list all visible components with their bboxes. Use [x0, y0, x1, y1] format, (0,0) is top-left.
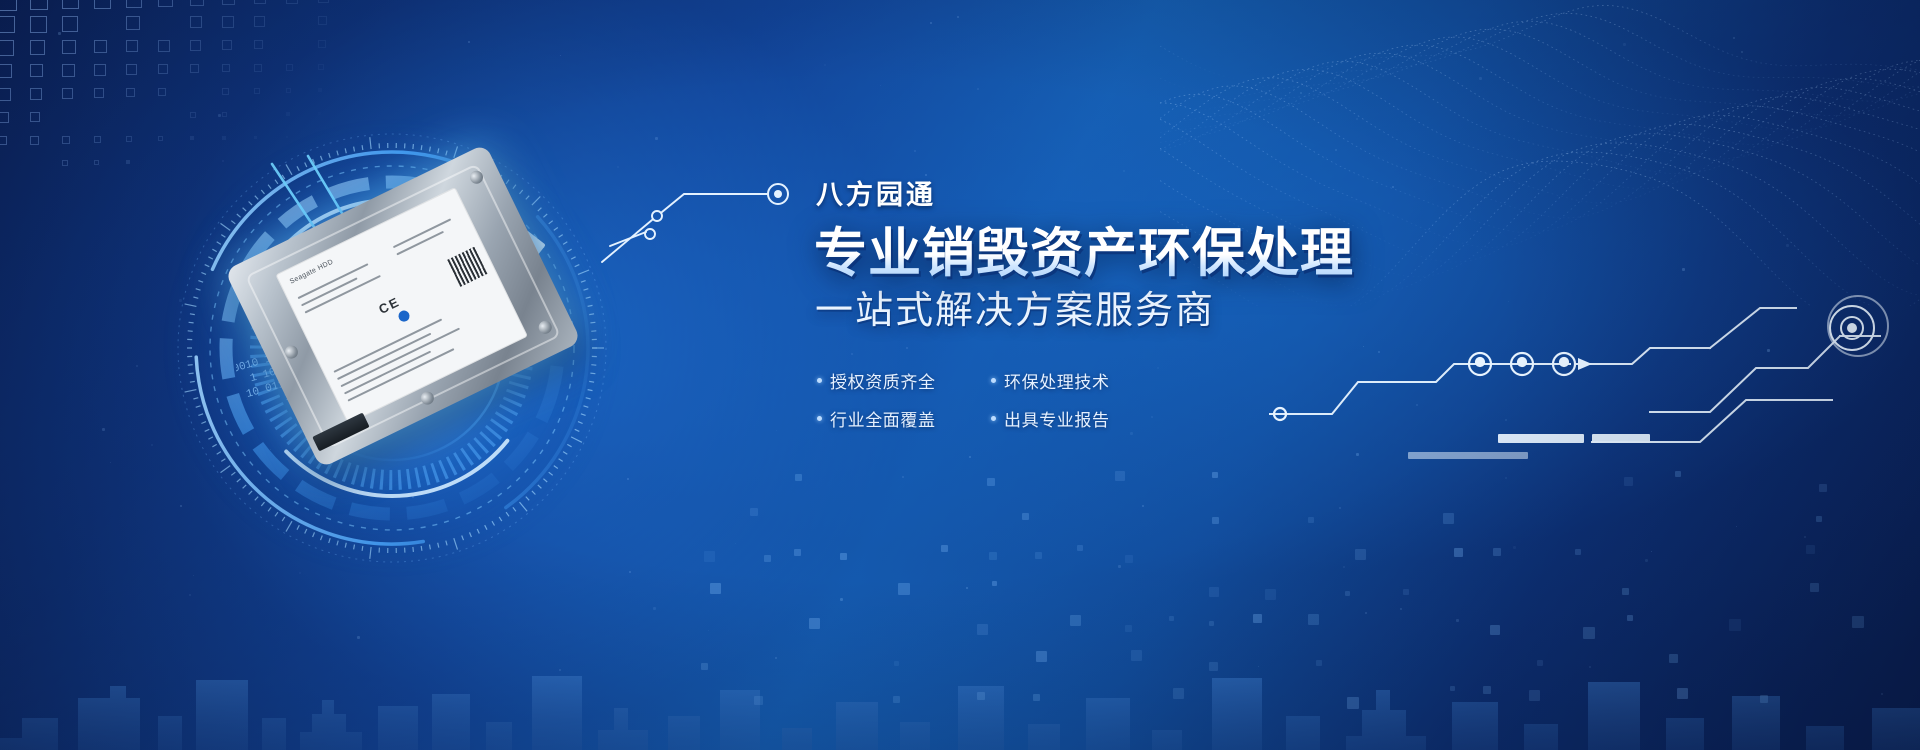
- feature-bullet: 出具专业报告: [991, 406, 1139, 431]
- feature-bullet: 环保处理技术: [991, 368, 1139, 393]
- hero-subheadline: 一站式解决方案服务商: [815, 290, 1514, 334]
- hero-banner: 0010 1001 100 1 101100 10 10 0110 111 1:…: [0, 0, 1920, 750]
- feature-bullet-label: 环保处理技术: [1004, 368, 1110, 393]
- hero-headline: 专业销毁资产环保处理: [814, 225, 1514, 282]
- hero-copy-block: 八方园通 专业销毁资产环保处理 一站式解决方案服务商 授权资质齐全 环保处理技术…: [814, 182, 1514, 431]
- feature-bullet-label: 授权资质齐全: [830, 368, 936, 393]
- bullet-dot-icon: [991, 416, 996, 421]
- bullet-dot-icon: [817, 378, 822, 383]
- bullet-dot-icon: [817, 416, 822, 421]
- brand-name: 八方园通: [816, 182, 1514, 209]
- feature-bullet-list: 授权资质齐全 环保处理技术 行业全面覆盖 出具专业报告: [817, 368, 1514, 431]
- bullet-dot-icon: [991, 378, 996, 383]
- feature-bullet-label: 行业全面覆盖: [830, 406, 936, 431]
- feature-bullet: 行业全面覆盖: [817, 406, 965, 431]
- feature-bullet-label: 出具专业报告: [1004, 406, 1110, 431]
- feature-bullet: 授权资质齐全: [817, 368, 965, 393]
